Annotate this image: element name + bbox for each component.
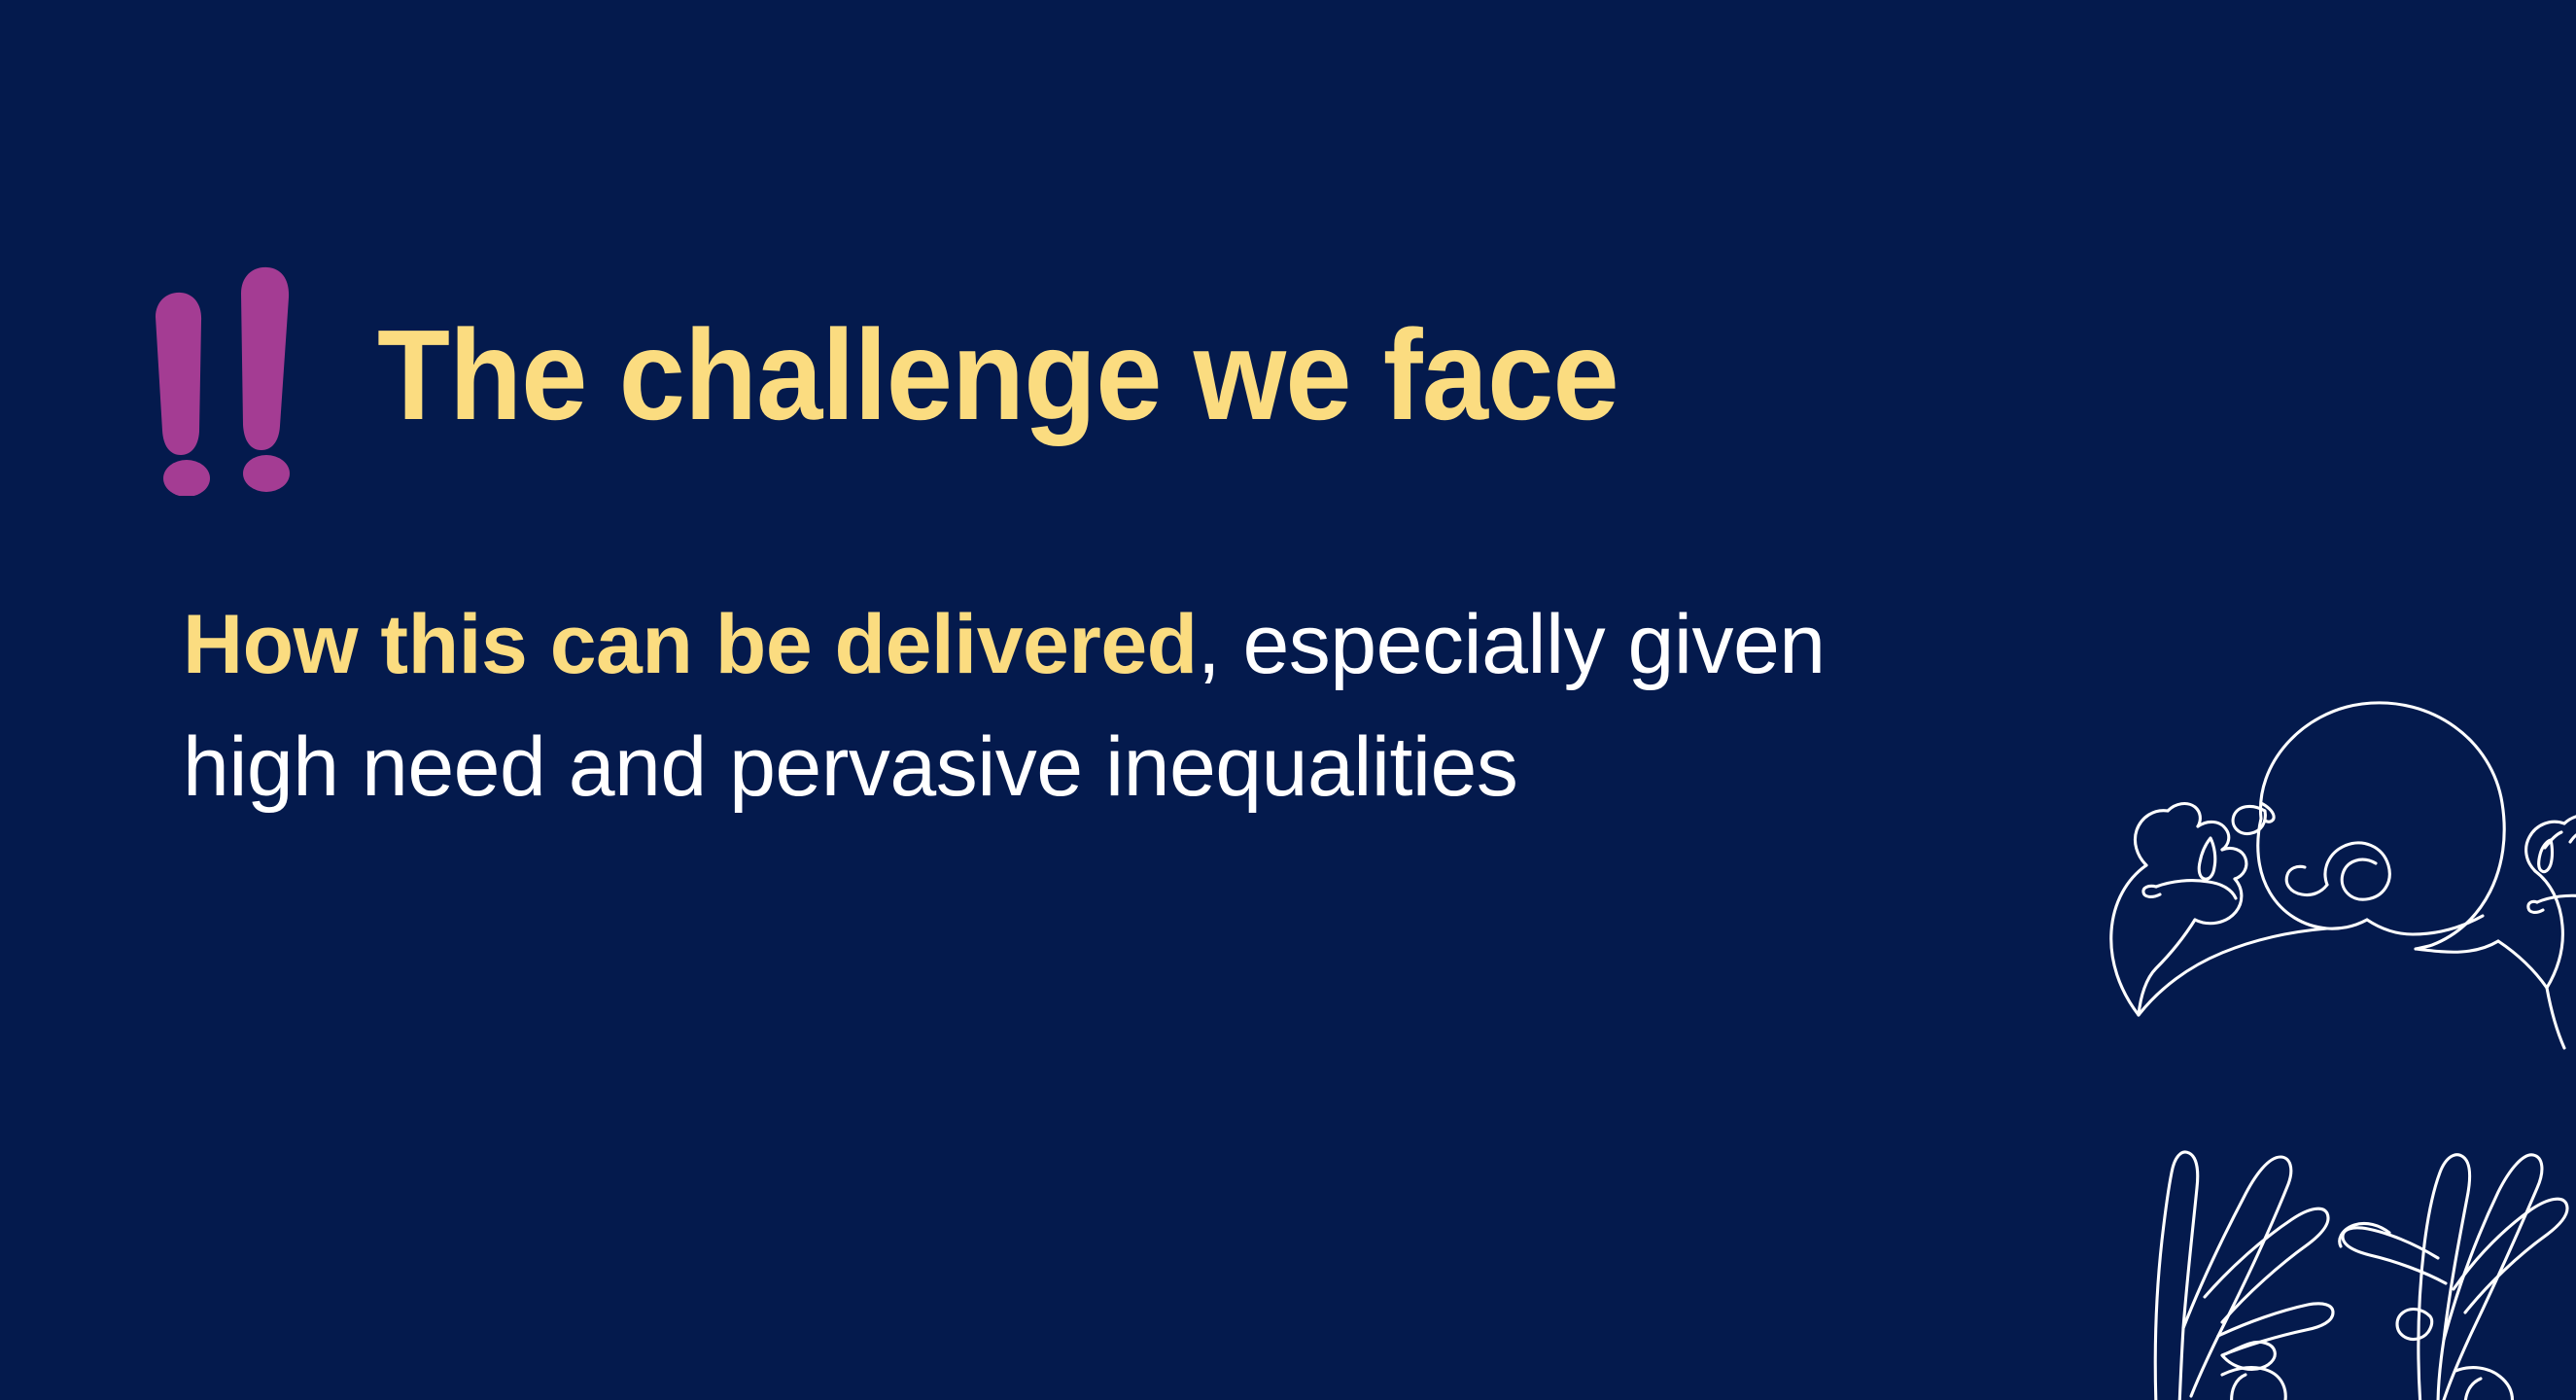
heading-row: The challenge we face (144, 262, 1644, 496)
page-title: The challenge we face (377, 311, 1619, 439)
slide-canvas: The challenge we face How this can be de… (0, 0, 2576, 1400)
baby-held-by-hands-illustration (2001, 647, 2576, 1400)
double-exclamation-icon (144, 262, 309, 496)
body-copy: How this can be delivered, especially gi… (183, 583, 1835, 829)
body-copy-lede: How this can be delivered (183, 598, 1198, 691)
